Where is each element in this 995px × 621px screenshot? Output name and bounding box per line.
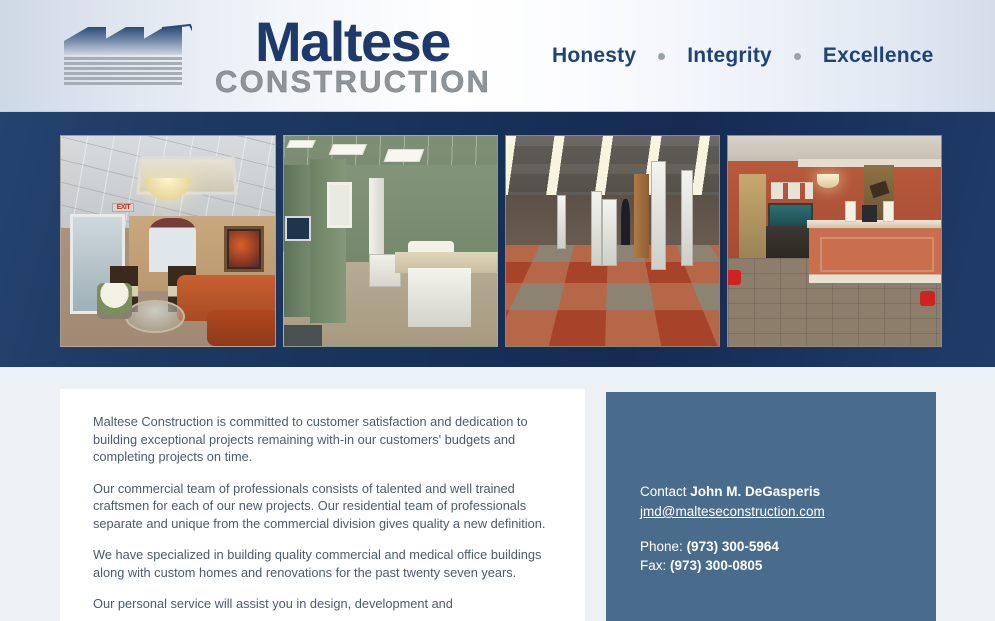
tagline-word-integrity: Integrity: [687, 44, 772, 68]
photo3-gym-machine: [557, 195, 566, 250]
three-buildings-logo-icon: [62, 21, 192, 93]
contact-name-line: Contact John M. DeGasperis: [640, 482, 936, 501]
about-paragraph-3: We have specialized in building quality …: [93, 546, 550, 581]
contact-spacer: [640, 521, 936, 537]
contact-person-name: John M. DeGasperis: [690, 484, 820, 499]
photo4-red-object: [727, 270, 741, 285]
photo3-gym-machine: [591, 191, 602, 267]
logo-name-text: Maltese: [255, 14, 450, 70]
fax-number: (973) 300-0805: [670, 558, 762, 573]
photo4-brochure: [845, 201, 856, 222]
contact-email-link[interactable]: jmd@malteseconstruction.com: [640, 502, 825, 521]
photo4-desk-equipment: [862, 205, 877, 222]
contact-fax-line: Fax: (973) 300-0805: [640, 556, 936, 575]
contact-phone-line: Phone: (973) 300-5964: [640, 537, 936, 556]
fax-label: Fax:: [640, 558, 666, 573]
photo4-brochure: [883, 201, 894, 222]
page-root: Maltese CONSTRUCTION Honesty Integrity E…: [0, 0, 995, 621]
photo-office-lobby[interactable]: EXIT: [60, 135, 276, 347]
photo-medical-exam-room[interactable]: [283, 135, 498, 347]
photo1-flower-planter: [97, 283, 131, 319]
photo2-exam-table-base: [408, 268, 472, 327]
phone-number: (973) 300-5964: [687, 539, 779, 554]
photo4-wall-pictures: [771, 182, 814, 199]
photo3-person: [621, 199, 630, 245]
photo4-reception-desk: [809, 224, 941, 283]
photo4-doorway: [739, 174, 767, 258]
logo-wordmark: Maltese CONSTRUCTION: [190, 16, 490, 96]
bullet-dot-icon: [794, 53, 801, 60]
photo2-computer-monitor: [285, 216, 311, 241]
photo2-ceiling-light: [384, 149, 425, 162]
tagline-word-honesty: Honesty: [552, 44, 636, 68]
site-header: Maltese CONSTRUCTION Honesty Integrity E…: [0, 0, 995, 112]
tagline-word-excellence: Excellence: [823, 44, 934, 68]
photo-gallery: EXIT: [60, 135, 942, 347]
about-paragraph-4: Our personal service will assist you in …: [93, 595, 550, 613]
phone-label: Phone:: [640, 539, 683, 554]
contact-label: Contact: [640, 484, 687, 499]
photo-fitness-center[interactable]: [505, 135, 720, 347]
photo2-wall-frame: [327, 182, 353, 228]
photo2-ceiling-light: [286, 140, 315, 148]
photo3-gym-machine: [602, 199, 617, 266]
photo1-window-drapes: [149, 218, 196, 273]
photo1-exit-sign: EXIT: [112, 203, 134, 212]
about-text-card: Maltese Construction is committed to cus…: [60, 389, 585, 621]
photo4-low-counter: [766, 226, 813, 258]
photo3-gym-machine: [651, 161, 666, 270]
photo4-red-object: [920, 291, 935, 306]
photo-reception-area[interactable]: [727, 135, 942, 347]
header-tagline: Honesty Integrity Excellence: [552, 44, 934, 68]
photo3-column: [634, 174, 649, 258]
site-logo[interactable]: Maltese CONSTRUCTION: [62, 16, 482, 96]
photo1-glass-table: [125, 300, 185, 334]
about-paragraph-1: Maltese Construction is committed to cus…: [93, 413, 550, 466]
bullet-dot-icon: [658, 53, 665, 60]
photo3-gym-machine: [681, 170, 694, 267]
logo-subtitle-text: CONSTRUCTION: [215, 66, 491, 97]
photo2-ceiling-light: [329, 144, 367, 155]
photo1-sofa: [207, 310, 276, 346]
about-paragraph-2: Our commercial team of professionals con…: [93, 480, 550, 533]
photo2-floor-mat: [284, 325, 322, 346]
hero-photo-band: EXIT: [0, 112, 995, 367]
photo1-framed-art: [224, 226, 265, 272]
contact-panel: Contact John M. DeGasperis jmd@malteseco…: [606, 392, 936, 621]
